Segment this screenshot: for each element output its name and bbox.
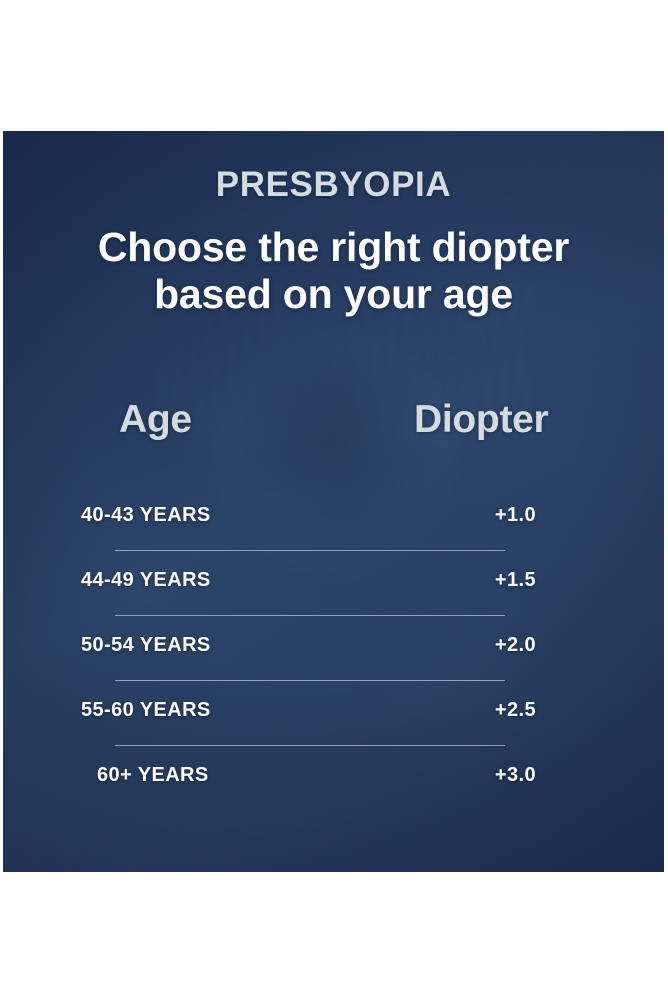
age-diopter-table: 40-43 YEARS +1.0 44-49 YEARS +1.5 50-54 … (3, 494, 664, 819)
row-diopter-value: +3.0 (495, 764, 536, 787)
presbyopia-infographic-panel: PRESBYOPIA Choose the right diopter base… (3, 131, 664, 872)
table-row: 60+ YEARS +3.0 (3, 754, 664, 819)
row-age-value: 60+ YEARS (97, 764, 209, 787)
table-header-row: Age Diopter (3, 398, 664, 450)
row-diopter-value: +2.5 (495, 699, 536, 722)
headline: Choose the right diopter based on your a… (29, 224, 638, 318)
row-age-value: 44-49 YEARS (81, 569, 211, 592)
table-row: 40-43 YEARS +1.0 (3, 494, 664, 559)
row-age-value: 55-60 YEARS (81, 699, 211, 722)
eyebrow-title: PRESBYOPIA (3, 165, 664, 205)
row-age-value: 40-43 YEARS (81, 504, 211, 527)
headline-line-2: based on your age (29, 271, 638, 318)
table-row: 44-49 YEARS +1.5 (3, 559, 664, 624)
table-row: 50-54 YEARS +2.0 (3, 624, 664, 689)
column-header-diopter: Diopter (414, 398, 548, 442)
column-header-age: Age (119, 398, 192, 442)
headline-line-1: Choose the right diopter (98, 224, 569, 270)
row-divider (115, 550, 505, 551)
row-age-value: 50-54 YEARS (81, 634, 211, 657)
row-diopter-value: +2.0 (495, 634, 536, 657)
row-divider (115, 680, 505, 681)
row-diopter-value: +1.0 (495, 504, 536, 527)
row-divider (115, 745, 505, 746)
row-diopter-value: +1.5 (495, 569, 536, 592)
table-row: 55-60 YEARS +2.5 (3, 689, 664, 754)
row-divider (115, 615, 505, 616)
poster-content: PRESBYOPIA Choose the right diopter base… (3, 131, 664, 872)
